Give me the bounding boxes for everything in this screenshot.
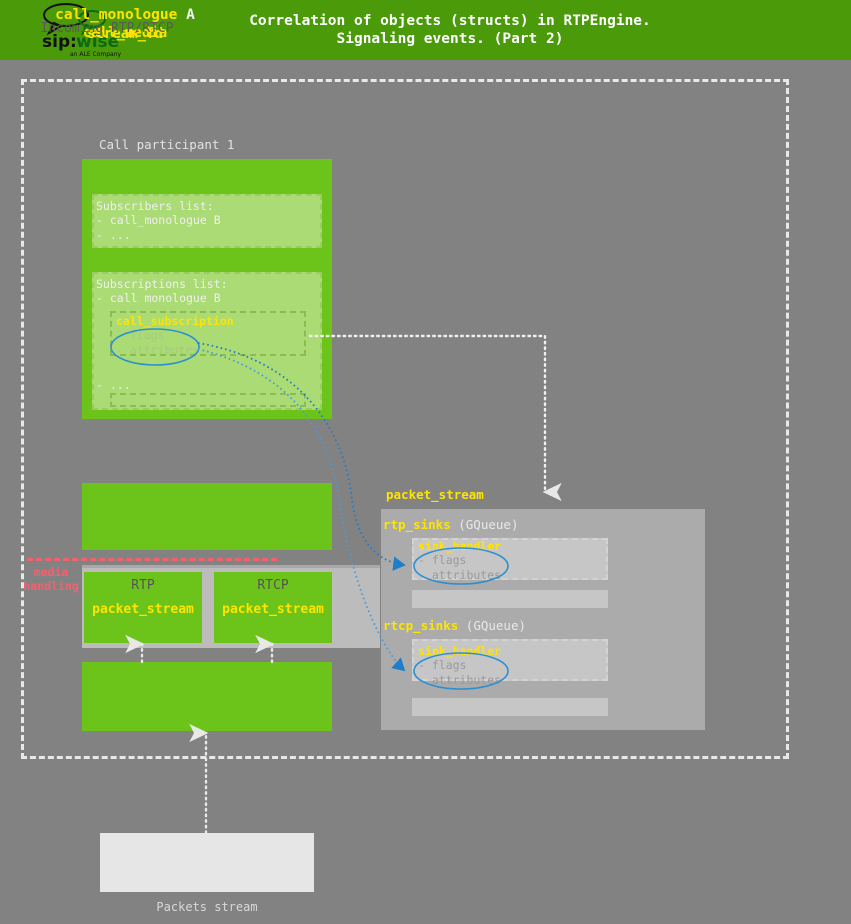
rtcp-struct-label: packet_stream [214,602,332,617]
packets-stream-caption: Packets stream [100,900,314,914]
rtp-sinks-label: rtp_sinks (GQueue) [383,517,518,532]
call-subscription-title: call_subscription [116,314,234,328]
rtp-sinks-name: rtp_sinks [383,517,451,532]
rtp-sinks-type: (GQueue) [451,517,519,532]
rtcp-sink-handler-fields: - flags - attributes [418,658,501,687]
media-handling-line2: handling [23,579,78,593]
rtcp-sinks-label: rtcp_sinks (GQueue) [383,618,526,633]
media-handling-line1: media [34,565,69,579]
page-title-line2: Signaling events. (Part 2) [337,30,564,48]
rtcp-packet-stream-box: RTCP packet_stream [214,572,332,643]
call-subscription-fields: - flags - attributes [116,328,199,357]
page-title-line1: Correlation of objects (structs) in RTPE… [249,12,651,30]
packet-stream-detail-title: packet_stream [386,487,484,502]
media-handling-label: mediahandling [22,565,80,593]
call-media-box [82,483,332,550]
incoming-packets-box [100,833,314,892]
subscribers-list-text: Subscribers list: - call_monologue B - .… [96,199,221,242]
rtp-sink-handler-title: sink_handler [418,539,501,553]
rtp-sink-empty-slot [412,590,608,608]
rtcp-sinks-type: (GQueue) [458,618,526,633]
call-participant-label: Call participant 1 [99,137,234,152]
rtp-proto-label: RTP [84,578,202,593]
rtp-struct-label: packet_stream [84,602,202,617]
media-handling-divider [27,558,277,561]
svg-text:an ALE Company: an ALE Company [70,51,122,58]
subscriptions-list-text: Subscriptions list: - call monologue B [96,277,228,306]
rtcp-sinks-name: rtcp_sinks [383,618,458,633]
stream-fd-box [82,662,332,731]
rtcp-proto-label: RTCP [214,578,332,593]
rtcp-sink-handler-title: sink_handler [418,644,501,658]
rtcp-sink-empty-slot [412,698,608,716]
rtp-packet-stream-box: RTP packet_stream [84,572,202,643]
incoming-packets-label: Incoming RTP/RTCP [0,21,214,36]
subscriptions-ellipsis: - ... [96,378,131,392]
rtp-sink-handler-fields: - flags - attributes [418,553,501,582]
call-subscription-empty-box [110,393,306,407]
